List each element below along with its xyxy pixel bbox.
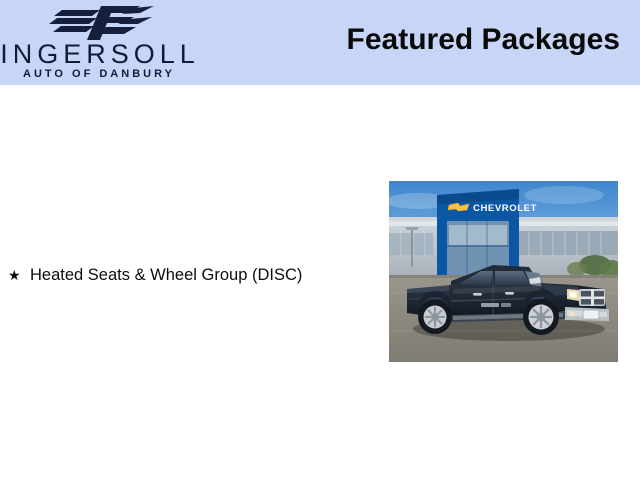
header-band: INGERSOLL AUTO OF DANBURY Featured Packa… xyxy=(0,0,640,85)
logo-tagline: AUTO OF DANBURY xyxy=(0,68,198,80)
dealer-logo: INGERSOLL AUTO OF DANBURY xyxy=(0,2,210,84)
page-title: Featured Packages xyxy=(347,22,620,58)
featured-packages-list: ★ Heated Seats & Wheel Group (DISC) xyxy=(8,264,378,292)
vehicle-photo: CHEVROLET xyxy=(389,181,618,362)
svg-text:CHEVROLET: CHEVROLET xyxy=(473,203,537,214)
ingersoll-wing-emblem xyxy=(48,4,156,42)
logo-wordmark: INGERSOLL xyxy=(0,42,200,67)
list-item: ★ Heated Seats & Wheel Group (DISC) xyxy=(8,264,378,286)
feature-label: Heated Seats & Wheel Group (DISC) xyxy=(30,264,378,286)
star-bullet-icon: ★ xyxy=(8,264,30,286)
